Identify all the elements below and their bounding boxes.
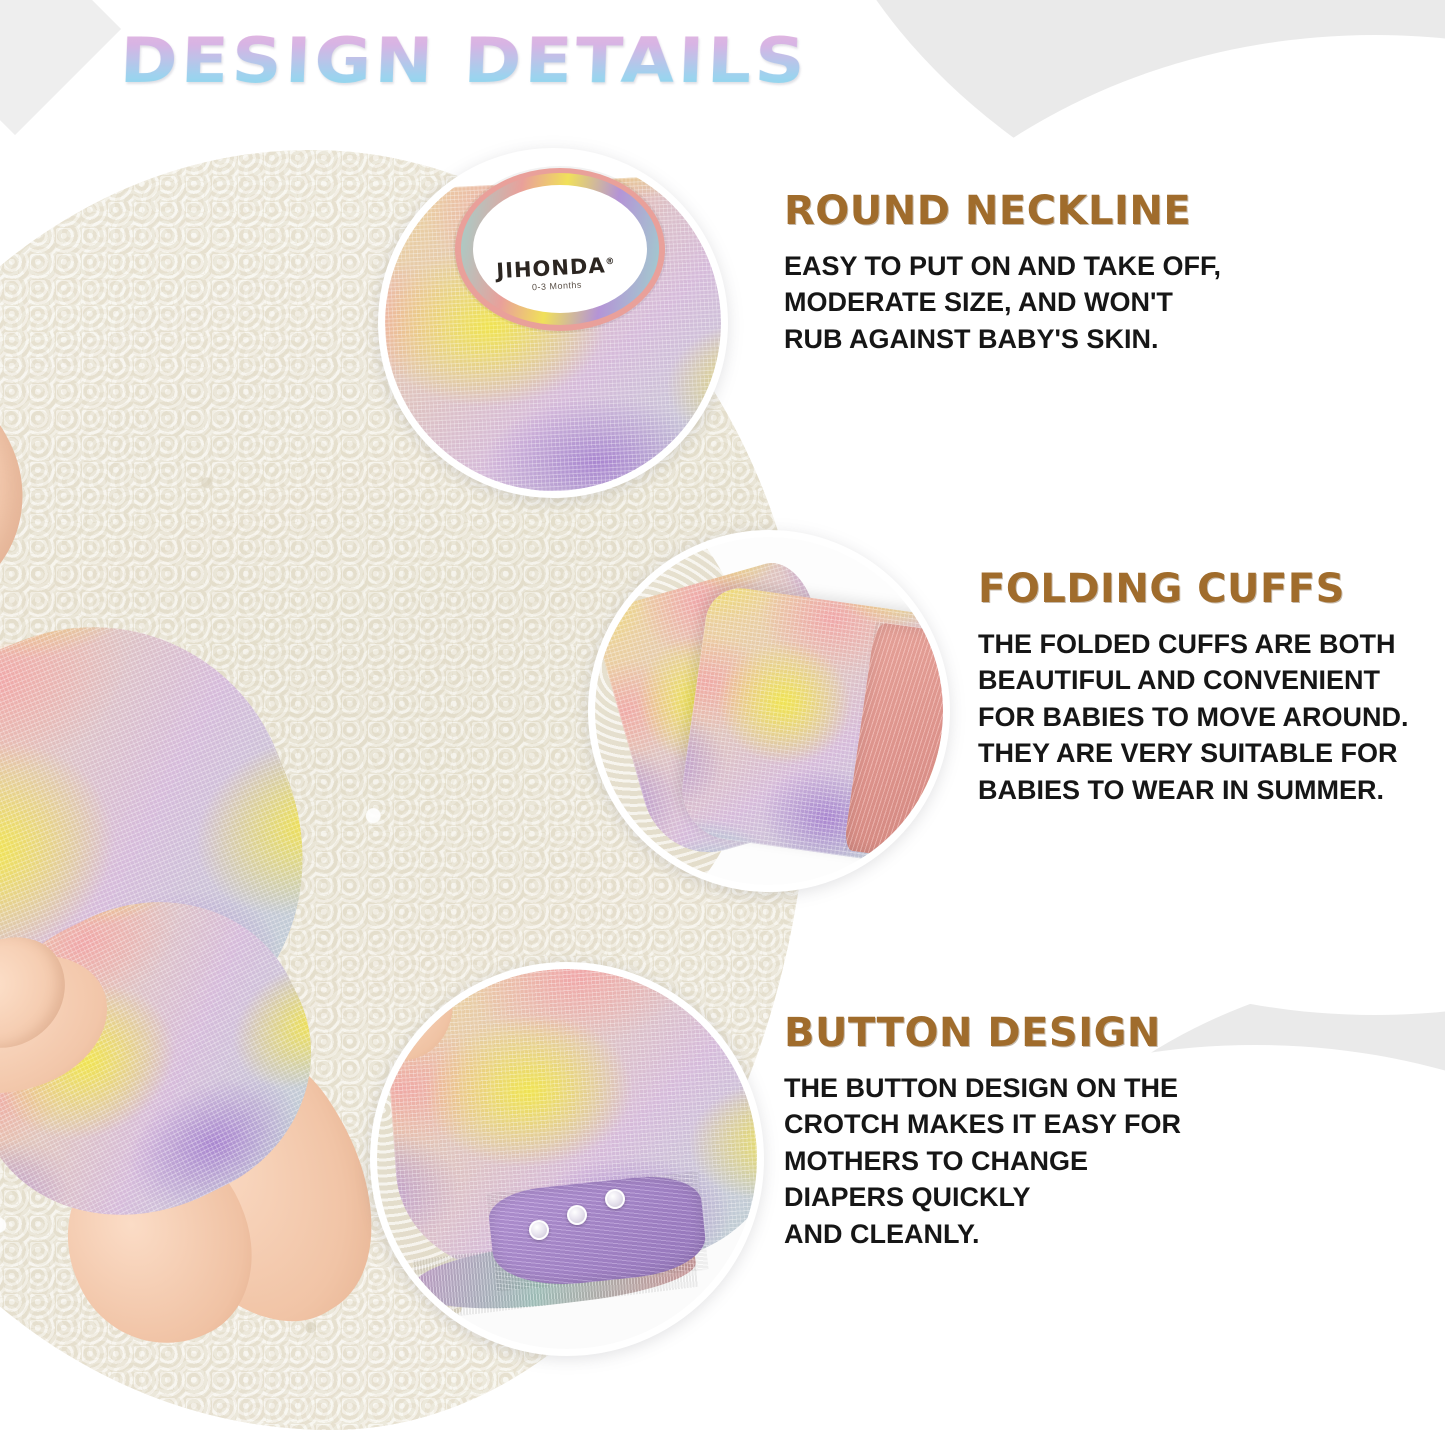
feature-block-button: BUTTON DESIGN THE BUTTON DESIGN ON THE C… [784,1010,1234,1252]
cuffs-detail-circle[interactable] [588,530,950,892]
infographic-canvas: DESIGN DETAILS [0,0,1445,1445]
snap-button-icon [567,1205,587,1225]
neckline-detail-circle[interactable]: JIHONDA® 0-3 Months [378,148,728,498]
corner-accent-top-left [0,0,121,135]
feature-body-neckline: EASY TO PUT ON AND TAKE OFF, MODERATE SI… [784,248,1254,357]
feature-block-neckline: ROUND NECKLINE EASY TO PUT ON AND TAKE O… [784,188,1254,357]
feature-body-cuffs: THE FOLDED CUFFS ARE BOTH BEAUTIFUL AND … [978,626,1428,808]
trademark-symbol: ® [605,257,616,268]
feature-block-cuffs: FOLDING CUFFS THE FOLDED CUFFS ARE BOTH … [978,566,1428,808]
feature-heading-button: BUTTON DESIGN [784,1010,1234,1056]
button-detail-circle[interactable] [370,962,764,1356]
page-title: DESIGN DETAILS [119,24,810,97]
feature-heading-neckline: ROUND NECKLINE [784,188,1254,234]
snap-button-icon [529,1220,549,1240]
feature-body-button: THE BUTTON DESIGN ON THE CROTCH MAKES IT… [784,1070,1234,1252]
neckline-ribbing [461,173,659,324]
feature-heading-cuffs: FOLDING CUFFS [978,566,1428,612]
